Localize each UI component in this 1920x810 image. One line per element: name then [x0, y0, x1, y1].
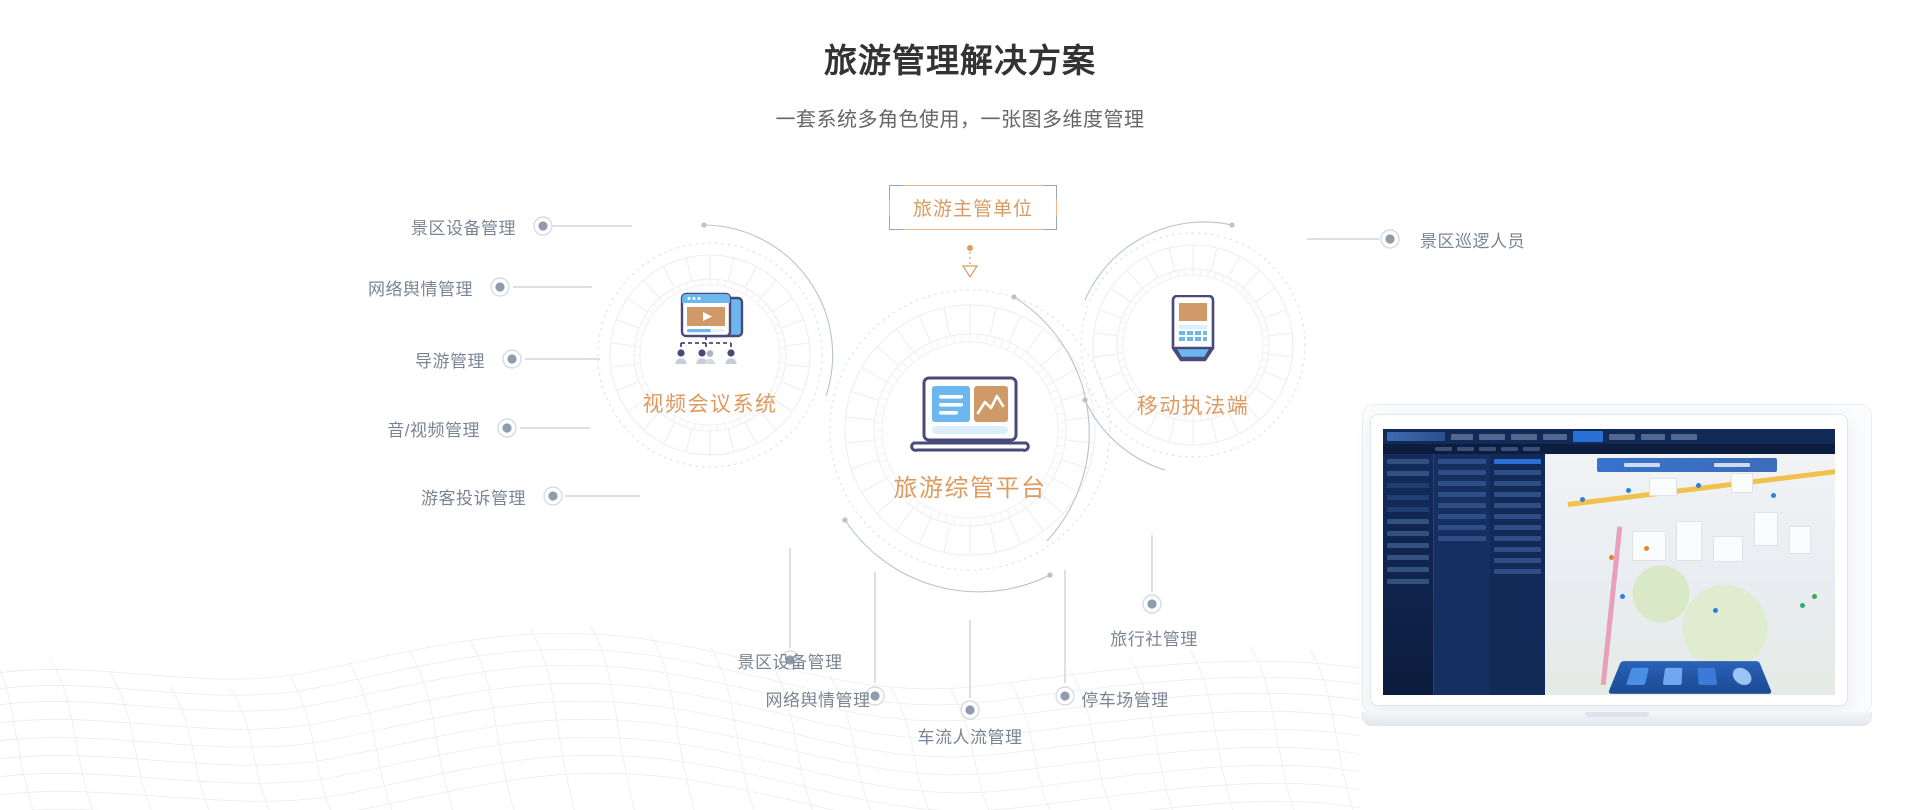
mockup-tree-row	[1438, 492, 1486, 497]
page-header: 旅游管理解决方案 一套系统多角色使用，一张图多维度管理	[0, 40, 1920, 132]
mockup-tree-row	[1438, 525, 1486, 530]
mockup-legend-row	[1494, 547, 1542, 552]
map-road-secondary	[1600, 527, 1622, 686]
mockup-legend-row	[1494, 525, 1542, 530]
dashboard-mockup	[1383, 429, 1835, 695]
map-marker-alert	[1644, 546, 1649, 551]
mockup-sidebar-item	[1387, 507, 1429, 512]
map-toolbar-control	[1714, 463, 1750, 467]
map-toolbar-control	[1624, 463, 1660, 467]
map-building	[1649, 478, 1677, 496]
mockup-sidebar-item	[1387, 459, 1429, 464]
node-label-left-0: 景区设备管理	[206, 214, 516, 239]
video-conference-icon	[672, 292, 752, 372]
node-label-left-3: 音/视频管理	[170, 416, 480, 441]
map-marker	[1620, 594, 1625, 599]
page-subtitle: 一套系统多角色使用，一张图多维度管理	[0, 103, 1920, 132]
mockup-legend-row	[1494, 503, 1542, 508]
node-label-left-2: 导游管理	[175, 347, 485, 372]
node-label-bottom-2: 车流人流管理	[858, 723, 1082, 748]
mockup-sidebar-item	[1387, 567, 1429, 572]
mockup-legend-row	[1494, 470, 1542, 475]
mockup-logo	[1387, 432, 1445, 441]
map-road-main	[1568, 468, 1835, 507]
map-building	[1731, 473, 1753, 493]
map-toolbar	[1597, 458, 1777, 472]
map-marker	[1696, 483, 1701, 488]
node-label-bottom-0: 景区设备管理	[678, 648, 902, 673]
mockup-legend-row	[1494, 536, 1542, 541]
mockup-legend-row	[1494, 481, 1542, 486]
mockup-legend-row	[1494, 514, 1542, 519]
solution-diagram-page: 旅游管理解决方案 一套系统多角色使用，一张图多维度管理	[0, 0, 1920, 810]
mockup-body	[1383, 454, 1835, 695]
map-marker	[1771, 493, 1776, 498]
mockup-nav-tab-active	[1573, 431, 1603, 442]
map-marker	[1713, 608, 1718, 613]
page-title: 旅游管理解决方案	[0, 40, 1920, 83]
mockup-topbar	[1383, 429, 1835, 444]
mockup-nav-tab	[1451, 434, 1473, 440]
map-marker-poi	[1800, 603, 1805, 608]
mockup-sidebar-item	[1387, 483, 1429, 488]
mockup-sidebar	[1383, 454, 1433, 695]
laptop-notch	[1585, 712, 1649, 717]
mockup-tree-row	[1438, 514, 1486, 519]
laptop-screen	[1370, 414, 1848, 706]
mockup-nav-tab	[1609, 434, 1635, 440]
map-building	[1754, 512, 1778, 546]
mockup-nav-tab	[1641, 434, 1665, 440]
mockup-tree-column	[1434, 454, 1490, 695]
dock-icon	[1698, 668, 1718, 685]
mockup-sidebar-item	[1387, 555, 1429, 560]
mockup-legend-row	[1494, 569, 1542, 574]
laptop-dashboard-icon	[908, 375, 1032, 461]
mockup-map-canvas	[1545, 454, 1835, 695]
hub-label-mobile: 移动执法端	[1093, 390, 1293, 420]
dock-icon	[1731, 668, 1754, 685]
mockup-tree-row	[1438, 536, 1486, 541]
mockup-sidebar-item	[1387, 543, 1429, 548]
mockup-sidebar-item	[1387, 579, 1429, 584]
handheld-terminal-icon	[1165, 295, 1221, 371]
mockup-chip	[1523, 447, 1540, 451]
mockup-sidebar-item	[1387, 495, 1429, 500]
corner-bracket-bottom-left	[889, 216, 903, 230]
mockup-tree-row	[1438, 470, 1486, 475]
dock-icon	[1626, 668, 1649, 685]
authority-box: 旅游主管单位	[889, 185, 1057, 230]
authority-label: 旅游主管单位	[913, 194, 1033, 221]
node-label-right-0: 景区巡逻人员	[1420, 227, 1525, 252]
mockup-tree-panel	[1433, 454, 1545, 695]
map-building	[1676, 521, 1702, 561]
dock-icon	[1662, 668, 1682, 685]
mockup-tree-row	[1438, 503, 1486, 508]
mockup-nav-tab	[1671, 434, 1697, 440]
hub-label-platform: 旅游综管平台	[870, 468, 1070, 503]
mockup-chip	[1479, 447, 1496, 451]
mockup-sidebar-item	[1387, 471, 1429, 476]
mockup-legend-row	[1494, 492, 1542, 497]
mockup-legend-column	[1490, 454, 1546, 695]
mockup-tree-row	[1438, 481, 1486, 486]
map-building	[1713, 536, 1743, 562]
corner-bracket-top-left	[889, 185, 903, 199]
mockup-chip	[1457, 447, 1474, 451]
map-bottom-dock	[1608, 661, 1772, 694]
corner-bracket-top-right	[1043, 185, 1057, 199]
mockup-legend-row	[1494, 558, 1542, 563]
mockup-tree-row	[1438, 459, 1486, 464]
mockup-sidebar-item	[1387, 519, 1429, 524]
mockup-sidebar-item	[1387, 531, 1429, 536]
mockup-chip	[1435, 447, 1452, 451]
hub-label-video: 视频会议系统	[610, 388, 810, 418]
mockup-legend-row-active	[1494, 459, 1542, 464]
map-marker	[1626, 488, 1631, 493]
map-marker-poi	[1812, 594, 1817, 599]
mockup-nav-tab	[1511, 434, 1537, 440]
mockup-nav-tab	[1479, 434, 1505, 440]
node-label-bottom-4: 旅行社管理	[1042, 625, 1266, 650]
node-label-bottom-1: 网络舆情管理	[706, 686, 930, 711]
map-building	[1632, 531, 1666, 561]
mockup-chip	[1501, 447, 1518, 451]
mockup-nav-tab	[1543, 434, 1567, 440]
node-label-left-4: 游客投诉管理	[216, 484, 526, 509]
map-building	[1789, 526, 1811, 554]
mockup-subbar	[1383, 444, 1835, 454]
node-label-bottom-3: 停车场管理	[1013, 686, 1237, 711]
node-label-left-1: 网络舆情管理	[163, 275, 473, 300]
corner-bracket-bottom-right	[1043, 216, 1057, 230]
laptop-product-mockup	[1362, 404, 1872, 764]
